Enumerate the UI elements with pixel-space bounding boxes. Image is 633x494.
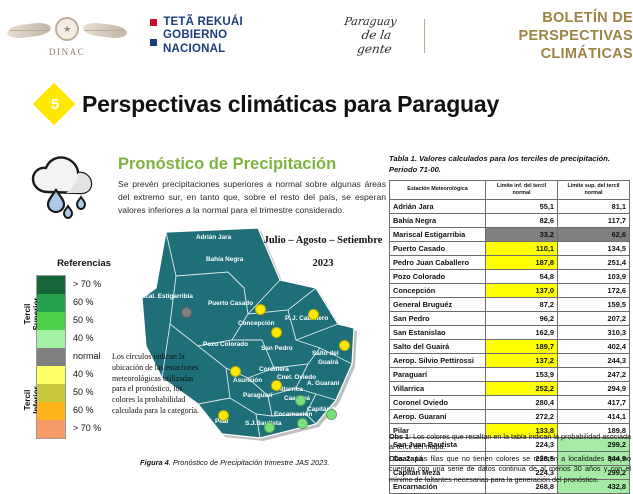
legend-label-5: 40 % [73,365,101,383]
table-row: Mariscal Estigarribia33,262,6 [390,227,630,241]
cell-upper-limit-12: 247,2 [558,367,630,381]
cell-station-1: Bahía Negra [390,213,486,227]
legend-label-column: > 70 %60 %50 %40 %normal40 %50 %60 %> 70… [73,275,101,439]
map-city-label-18: Encarnación [274,411,312,418]
table-caption-text: . Valores calculados para los terciles d… [389,154,610,174]
table-row: San Pedro96,2207,2 [390,311,630,325]
cell-station-9: San Estanislao [390,325,486,339]
cell-upper-limit-2: 62,6 [558,227,630,241]
station-dot-0[interactable] [181,307,192,318]
legend-label-1: 60 % [73,293,101,311]
cell-lower-limit-12: 153,9 [486,367,558,381]
legend-label-4: normal [73,347,101,365]
cell-upper-limit-5: 103,9 [558,269,630,283]
dinac-label: DINAC [49,47,86,57]
cell-upper-limit-1: 117,7 [558,213,630,227]
legend-swatch-7 [37,402,65,420]
table-row: Concepción137,0172,6 [390,283,630,297]
cell-upper-limit-3: 134,5 [558,241,630,255]
station-dot-9[interactable] [297,418,308,429]
legend-label-0: > 70 % [73,275,101,293]
cell-upper-limit-0: 81,1 [558,199,630,213]
obs2-label: Obs 2 [389,454,410,463]
header-divider [424,19,425,53]
map-city-label-8: Salto del [312,350,339,357]
map-city-label-6: Pozo Colorado [203,341,248,348]
legend-axis-labels: Tercil Superior Tercil Inferior [22,275,36,439]
seal-icon: ★ [55,17,79,41]
column-header-upper-limit: Límite sup. del tercil normal [558,181,630,200]
forecast-year: 2023 [258,258,388,269]
blue-square-icon [150,39,157,46]
cell-upper-limit-4: 251,4 [558,255,630,269]
legend-label-2: 50 % [73,311,101,329]
table-row: Villarrica252,2294,9 [390,381,630,395]
cell-station-15: Aerop. Guaraní [390,409,486,423]
cell-station-11: Aerop. Silvio Pettirossi [390,353,486,367]
cell-lower-limit-11: 137,2 [486,353,558,367]
cell-lower-limit-3: 110,1 [486,241,558,255]
cell-station-10: Salto del Guairá [390,339,486,353]
cell-station-13: Villarrica [390,381,486,395]
obs1-label: Obs 1 [389,432,409,441]
cell-upper-limit-9: 310,3 [558,325,630,339]
table-row: Pozo Colorado54,8103,9 [390,269,630,283]
table-row: Aerop. Guaraní272,2414,1 [390,409,630,423]
cell-station-8: San Pedro [390,311,486,325]
station-dot-7[interactable] [295,395,306,406]
station-dot-3[interactable] [271,327,282,338]
legend-label-3: 40 % [73,329,101,347]
table-row: Aerop. Silvio Pettirossi137,2244,3 [390,353,630,367]
cell-upper-limit-8: 207,2 [558,311,630,325]
government-branding: TETÃ REKUÁI GOBIERNO NACIONAL [150,16,287,56]
station-dot-1[interactable] [255,304,266,315]
map-city-label-7: San Pedro [261,345,293,352]
station-dot-5[interactable] [230,366,241,377]
cell-lower-limit-8: 96,2 [486,311,558,325]
page-header: ★ DINAC TETÃ REKUÁI GOBIERNO NACIONAL Pa… [0,0,633,72]
cell-station-2: Mariscal Estigarribia [390,227,486,241]
red-square-icon [150,19,157,26]
cell-lower-limit-15: 272,2 [486,409,558,423]
obs2-text: : Las filas que no tienen colores se ref… [389,454,631,484]
map-city-label-1: Bahía Negra [206,256,243,263]
map-city-label-5: P. J. Caballero [285,315,328,322]
govt-line-1: TETÃ REKUÁI [163,16,243,29]
station-dot-8[interactable] [326,409,337,420]
station-dot-2[interactable] [308,309,319,320]
legend-swatch-column [36,275,66,439]
observation-1: Obs 1: Los colores que resaltan en la ta… [389,432,631,453]
map-city-label-9: Guairá [318,359,338,366]
panel-title: Pronóstico de Precipitación [118,155,336,174]
map-city-label-12: Asunción [233,377,262,384]
map-city-label-4: Concepción [238,320,275,327]
station-dot-10[interactable] [264,422,275,433]
map-city-label-3: Puerto Casado [208,300,253,307]
legend-label-8: > 70 % [73,419,101,437]
station-dot-4[interactable] [339,340,350,351]
table-row: San Estanislao162,9310,3 [390,325,630,339]
legend-label-6: 50 % [73,383,101,401]
legend-label-7: 60 % [73,401,101,419]
figure-caption: Figura 4. Pronóstico de Precipitación tr… [140,458,390,467]
observations-block: Obs 1: Los colores que resaltan en la ta… [389,432,631,486]
star-icon: ★ [63,25,71,34]
rain-cloud-icon [26,152,108,220]
dinac-logo: ★ DINAC [0,15,134,57]
figure-caption-text: . Pronóstico de Precipitación trimestre … [169,458,330,467]
cell-upper-limit-7: 159,5 [558,297,630,311]
cell-station-3: Puerto Casado [390,241,486,255]
bulletin-title: BOLETÍN DE PERSPECTIVAS CLIMÁTICAS [441,9,633,63]
cell-lower-limit-6: 137,0 [486,283,558,297]
table-row: General Bruguéz87,2159,5 [390,297,630,311]
table-row: Adrián Jara55,181,1 [390,199,630,213]
page-title: Perspectivas climáticas para Paraguay [82,91,499,118]
cell-lower-limit-13: 252,2 [486,381,558,395]
legend-title: Referencias [30,258,138,269]
section-badge: 5 [32,87,78,121]
legend-swatch-5 [37,366,65,384]
table-caption-label: Tabla 1 [389,154,415,163]
brand-line-2: de la gente [342,29,411,57]
map-city-label-2: Mcal. Estigarribia [140,293,193,300]
legend-swatch-2 [37,312,65,330]
legend-swatch-4 [37,348,65,366]
wings-icon: ★ [7,15,127,45]
paraguay-brand: Paraguay de la gente [333,16,408,56]
cell-station-7: General Bruguéz [390,297,486,311]
cell-station-6: Concepción [390,283,486,297]
cell-upper-limit-14: 417,7 [558,395,630,409]
table-header-row: Estación Meteorológica Límite inf. del t… [390,181,630,200]
figure-caption-label: Figura 4 [140,458,169,467]
map-city-label-10: Cordillera [259,366,289,373]
legend-swatch-3 [37,330,65,348]
panel-body-text: Se prevén precipitaciones superiores a n… [118,178,386,217]
table-row: Bahía Negra82,6117,7 [390,213,630,227]
column-header-station: Estación Meteorológica [390,181,486,200]
cell-lower-limit-0: 55,1 [486,199,558,213]
section-number: 5 [32,87,78,121]
legend-swatch-0 [37,276,65,294]
cell-lower-limit-2: 33,2 [486,227,558,241]
cell-lower-limit-14: 280,4 [486,395,558,409]
table-row: Puerto Casado110,1134,5 [390,241,630,255]
station-dot-11[interactable] [218,410,229,421]
govt-line-2: GOBIERNO NACIONAL [163,29,287,55]
forecast-period: Julio – Agosto – Setiembre [258,235,388,246]
cell-lower-limit-9: 162,9 [486,325,558,339]
cell-upper-limit-15: 414,1 [558,409,630,423]
cell-lower-limit-7: 87,2 [486,297,558,311]
section-title-row: 5 Perspectivas climáticas para Paraguay [0,84,633,124]
legend-swatch-8 [37,420,65,438]
cell-lower-limit-4: 187,8 [486,255,558,269]
legend-swatch-1 [37,294,65,312]
map-city-label-0: Adrián Jara [196,234,231,241]
cell-upper-limit-11: 244,3 [558,353,630,367]
cell-lower-limit-5: 54,8 [486,269,558,283]
map-city-label-13: A. Guaraní [307,380,339,387]
column-header-lower-limit: Límite inf. del tercil normal [486,181,558,200]
table-row: Pedro Juan Caballero187,8251,4 [390,255,630,269]
table-row: Coronel Oviedo280,4417,7 [390,395,630,409]
cell-upper-limit-13: 294,9 [558,381,630,395]
cell-station-4: Pedro Juan Caballero [390,255,486,269]
cell-station-0: Adrián Jara [390,199,486,213]
station-dot-6[interactable] [271,380,282,391]
obs1-text: : Los colores que resaltan en la tabla i… [389,432,631,451]
brand-line-1: Paraguay [333,16,409,29]
table-caption: Tabla 1. Valores calculados para los ter… [389,153,631,175]
table-row: Paraguarí153,9247,2 [390,367,630,381]
map-city-label-15: Paraguarí [243,392,272,399]
table-row: Salto del Guairá189,7402,4 [390,339,630,353]
cell-upper-limit-6: 172,6 [558,283,630,297]
cell-station-12: Paraguarí [390,367,486,381]
observation-2: Obs 2: Las filas que no tienen colores s… [389,454,631,485]
cell-upper-limit-10: 402,4 [558,339,630,353]
legend-swatch-6 [37,384,65,402]
cell-station-14: Coronel Oviedo [390,395,486,409]
cell-lower-limit-1: 82,6 [486,213,558,227]
cell-station-5: Pozo Colorado [390,269,486,283]
cell-lower-limit-10: 189,7 [486,339,558,353]
map-note: Los círculos indican la ubicación de las… [112,352,204,417]
